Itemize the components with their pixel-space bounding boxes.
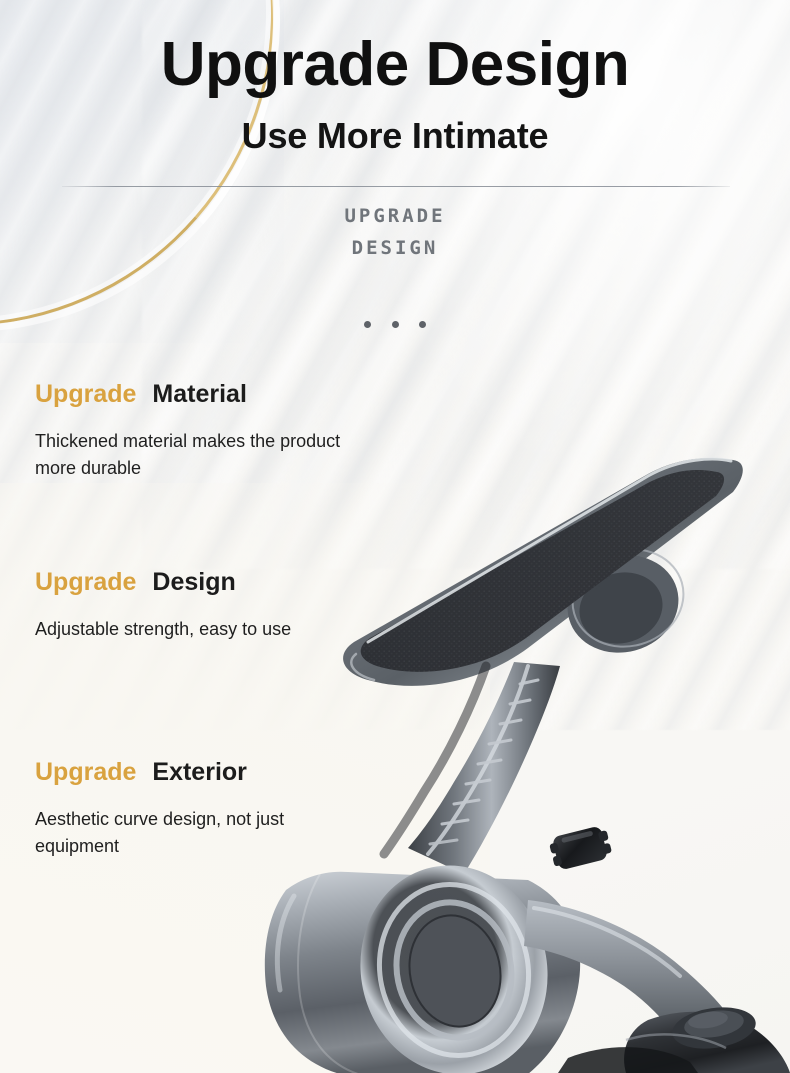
page-subtitle: Use More Intimate bbox=[0, 118, 790, 154]
feature-term: Material bbox=[152, 380, 246, 408]
dot-separator bbox=[0, 316, 790, 334]
page-title: Upgrade Design bbox=[0, 34, 790, 96]
feature-keyword: Upgrade bbox=[35, 380, 136, 408]
adjustment-knob[interactable] bbox=[548, 824, 613, 871]
dot-icon bbox=[419, 321, 426, 328]
tech-label-line-2: DESIGN bbox=[0, 232, 790, 264]
tech-label-line-1: UPGRADE bbox=[344, 205, 445, 227]
feature-keyword: Upgrade bbox=[35, 758, 136, 786]
product-illustration bbox=[228, 430, 790, 1073]
product-feature-banner: Upgrade Design Use More Intimate UPGRADE… bbox=[0, 0, 790, 1073]
feature-heading: UpgradeMaterial bbox=[35, 378, 395, 410]
product-image bbox=[228, 430, 790, 1073]
armrest-pad-sheen bbox=[361, 470, 724, 672]
tech-label: UPGRADE DESIGN bbox=[0, 200, 790, 264]
feature-keyword: Upgrade bbox=[35, 568, 136, 596]
header-divider bbox=[62, 186, 730, 187]
feature-term: Design bbox=[152, 568, 235, 596]
dot-icon bbox=[364, 321, 371, 328]
dot-icon bbox=[392, 321, 399, 328]
